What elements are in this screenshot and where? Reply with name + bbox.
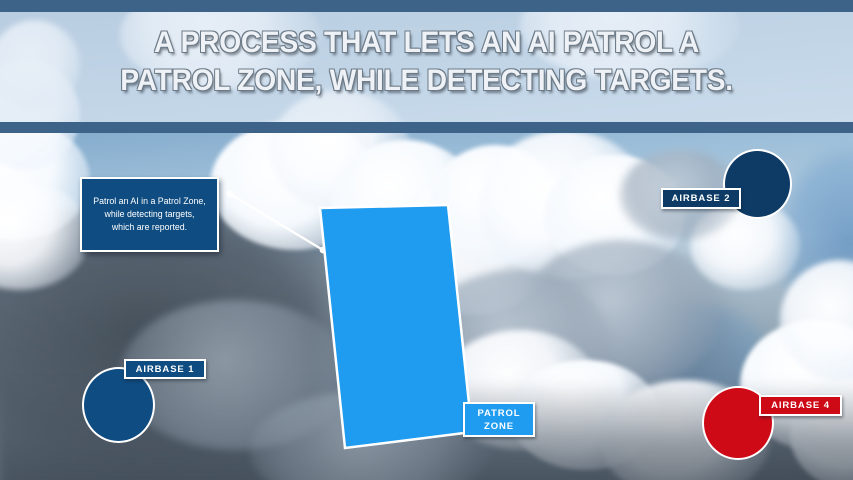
patrol-zone-shape[interactable]: [320, 205, 472, 448]
slide-canvas: A PROCESS THAT LETS AN AI PATROL A PATRO…: [0, 0, 853, 480]
airbase-4-label[interactable]: AIRBASE 4: [759, 395, 842, 416]
patrol-zone-label[interactable]: PATROL ZONE: [463, 402, 535, 437]
patrol-zone-label-line2: ZONE: [484, 420, 514, 433]
airbase-2-label[interactable]: AIRBASE 2: [661, 188, 741, 209]
airbase-1-label[interactable]: AIRBASE 1: [124, 359, 206, 379]
callout-box[interactable]: Patrol an AI in a Patrol Zone, while det…: [80, 177, 219, 252]
patrol-zone-label-line1: PATROL: [477, 407, 520, 420]
